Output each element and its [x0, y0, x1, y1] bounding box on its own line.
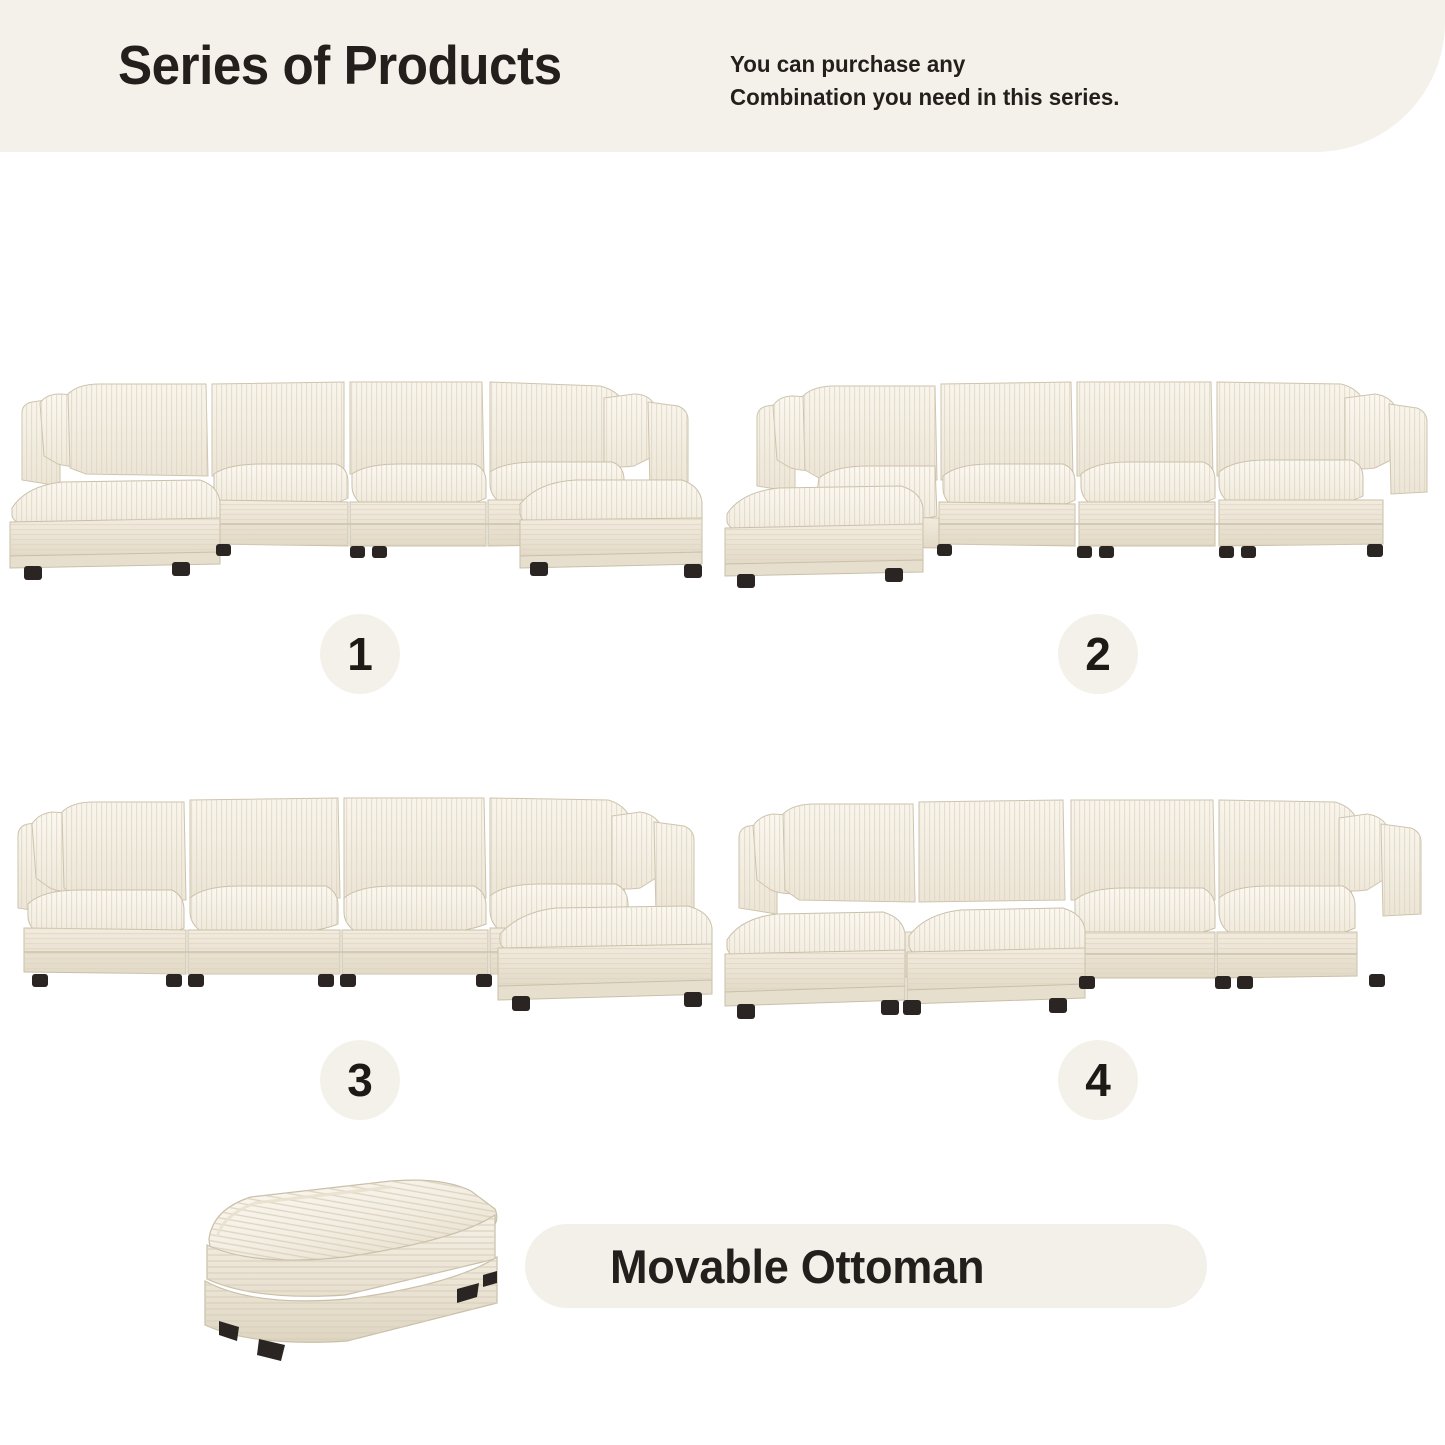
badge-4: 4: [1058, 1040, 1138, 1120]
badge-1: 1: [320, 614, 400, 694]
configuration-4[interactable]: [723, 782, 1445, 1022]
page-title: Series of Products: [118, 38, 562, 93]
movable-ottoman-label: Movable Ottoman: [610, 1243, 984, 1290]
configuration-2[interactable]: [723, 368, 1445, 598]
movable-ottoman-banner: Movable Ottoman: [525, 1224, 1207, 1308]
ottoman-illustration: [195, 1175, 575, 1365]
sofa-illustration: [723, 782, 1445, 1022]
header-subtitle: You can purchase any Combination you nee…: [730, 48, 1120, 115]
configuration-1[interactable]: [0, 368, 722, 598]
badge-2: 2: [1058, 614, 1138, 694]
badge-3: 3: [320, 1040, 400, 1120]
product-series-infographic: Series of Products You can purchase any …: [0, 0, 1445, 1445]
header-subtitle-line-1: You can purchase any: [730, 48, 1120, 81]
sofa-illustration: [0, 368, 722, 598]
sofa-illustration: [723, 368, 1445, 598]
movable-ottoman-product[interactable]: [195, 1175, 575, 1365]
header-subtitle-line-2: Combination you need in this series.: [730, 81, 1120, 114]
sofa-illustration: [0, 782, 722, 1022]
configuration-3[interactable]: [0, 782, 722, 1022]
